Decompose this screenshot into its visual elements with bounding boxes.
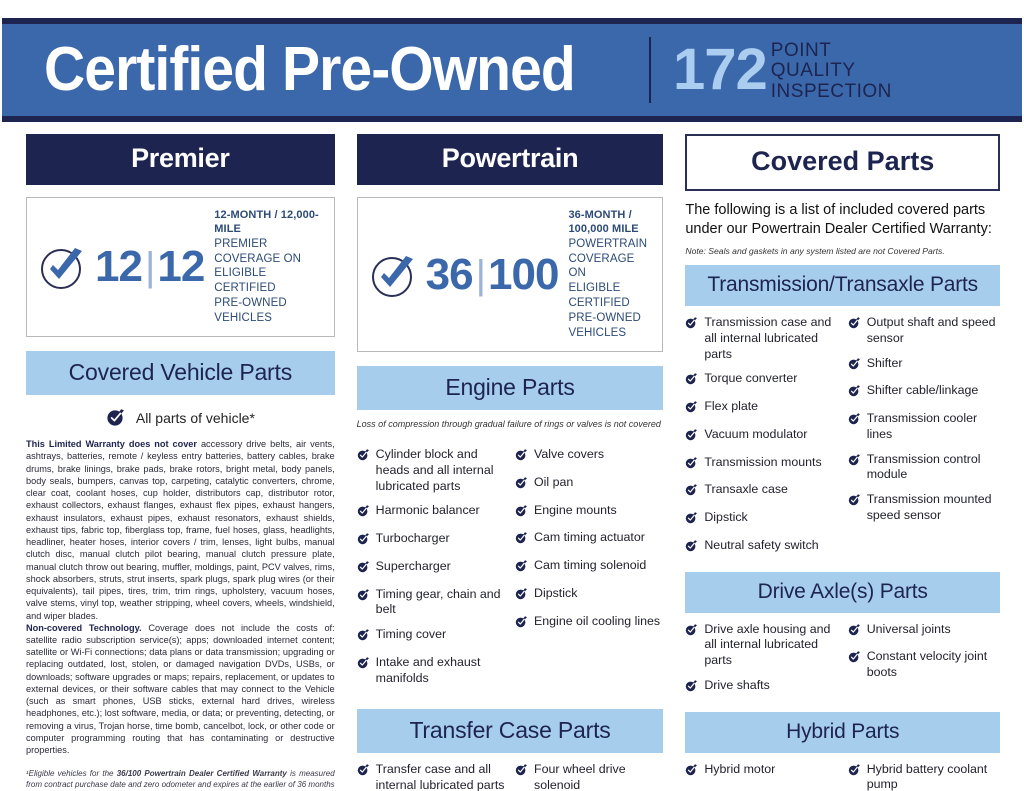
list-item-label: Cam timing solenoid bbox=[534, 558, 663, 574]
list-item-label: Intake and exhaust manifolds bbox=[376, 655, 505, 687]
disclaimer-lead: This Limited Warranty does not cover bbox=[26, 439, 197, 449]
list-item-label: Transaxle case bbox=[704, 482, 837, 498]
powertrain-months: 36 bbox=[426, 253, 473, 297]
list-item-label: Universal joints bbox=[867, 622, 1000, 638]
list-item: Hybrid battery coolant pump bbox=[848, 762, 1000, 791]
check-icon bbox=[848, 412, 861, 430]
list-item-label: Engine oil cooling lines bbox=[534, 614, 663, 630]
engine-parts-col1: Cylinder block and heads and all interna… bbox=[357, 447, 505, 695]
list-item-label: Shifter bbox=[867, 356, 1000, 372]
list-item-label: Neutral safety switch bbox=[704, 538, 837, 554]
tech-body: Coverage does not include the costs of: … bbox=[26, 623, 335, 755]
powertrain-badge-text: 36-MONTH / 100,000 MILE POWERTRAIN COVER… bbox=[568, 208, 654, 341]
check-icon bbox=[848, 623, 861, 641]
powertrain-badge-numbers: 36 | 100 bbox=[426, 253, 559, 297]
check-icon bbox=[357, 656, 370, 674]
list-item: Constant velocity joint boots bbox=[848, 649, 1000, 681]
list-item: Transmission case and all internal lubri… bbox=[685, 315, 837, 362]
powertrain-miles: 100 bbox=[488, 253, 558, 297]
list-item: Shifter bbox=[848, 356, 1000, 375]
transmission-col1: Transmission case and all internal lubri… bbox=[685, 315, 837, 566]
list-item: Shifter cable/linkage bbox=[848, 383, 1000, 402]
list-item-label: Transmission control module bbox=[867, 452, 1000, 484]
check-icon bbox=[357, 532, 370, 550]
header-band: Certified Pre-Owned 172 POINT QUALITY IN… bbox=[2, 24, 1022, 116]
list-item-label: Hybrid battery coolant pump bbox=[867, 762, 1000, 791]
hybrid-col1: Hybrid motorHybrid battery cooling fan m… bbox=[685, 762, 837, 791]
list-item-label: Hybrid motor bbox=[704, 762, 837, 778]
check-icon bbox=[357, 504, 370, 522]
list-item: Dipstick bbox=[685, 510, 837, 529]
check-icon bbox=[848, 357, 861, 375]
certified-pre-owned-page: Certified Pre-Owned 172 POINT QUALITY IN… bbox=[0, 18, 1024, 791]
list-item-label: Timing cover bbox=[376, 627, 505, 643]
check-icon bbox=[106, 407, 126, 430]
premier-badge-divider: | bbox=[145, 247, 154, 287]
powertrain-badge-line1: POWERTRAIN COVERAGE ON bbox=[568, 237, 654, 282]
list-item: Timing cover bbox=[357, 627, 505, 646]
check-icon bbox=[685, 763, 698, 781]
premier-badge-numbers: 12 | 12 bbox=[95, 245, 204, 289]
list-item-label: Transmission case and all internal lubri… bbox=[704, 315, 837, 362]
all-parts-row: All parts of vehicle* bbox=[26, 395, 335, 436]
list-item-label: Cylinder block and heads and all interna… bbox=[376, 447, 505, 494]
check-icon bbox=[357, 448, 370, 466]
drive-axle-col2: Universal jointsConstant velocity joint … bbox=[848, 622, 1000, 706]
covered-parts-intro: The following is a list of included cove… bbox=[685, 201, 1000, 238]
list-item: Torque converter bbox=[685, 371, 837, 390]
list-item: Neutral safety switch bbox=[685, 538, 837, 557]
check-icon bbox=[685, 372, 698, 390]
powertrain-badge-line2: ELIGIBLE CERTIFIED bbox=[568, 281, 654, 311]
check-icon bbox=[515, 504, 528, 522]
column-premier: Premier 12 | 12 12-MONTH / 12,000-MILE P… bbox=[14, 134, 343, 791]
footnote-1a: ¹Eligible vehicles for the bbox=[26, 769, 117, 778]
list-item-label: Transmission cooler lines bbox=[867, 411, 1000, 443]
powertrain-badge-term: 36-MONTH / 100,000 MILE bbox=[568, 208, 654, 237]
list-item: Valve covers bbox=[515, 447, 663, 466]
list-item: Vacuum modulator bbox=[685, 427, 837, 446]
covered-vehicle-parts-title: Covered Vehicle Parts bbox=[26, 351, 335, 395]
transfer-case-col1: Transfer case and all internal lubricate… bbox=[357, 762, 505, 791]
transmission-parts-title: Transmission/Transaxle Parts bbox=[685, 265, 1000, 306]
hybrid-col2: Hybrid battery coolant pumpInput damperI… bbox=[848, 762, 1000, 791]
list-item: Transmission mounted speed sensor bbox=[848, 492, 1000, 524]
list-item: Timing gear, chain and belt bbox=[357, 587, 505, 619]
inspection-label-line2: QUALITY bbox=[771, 61, 892, 82]
footnote-1b: 36/100 Powertrain Dealer Certified Warra… bbox=[117, 769, 287, 778]
list-item-label: Flex plate bbox=[704, 399, 837, 415]
check-icon bbox=[515, 448, 528, 466]
list-item-label: Oil pan bbox=[534, 475, 663, 491]
transfer-case-parts-title: Transfer Case Parts bbox=[357, 709, 664, 753]
check-icon bbox=[685, 316, 698, 334]
check-icon bbox=[685, 511, 698, 529]
list-item: Engine oil cooling lines bbox=[515, 614, 663, 633]
inspection-count: 172 bbox=[673, 41, 767, 99]
check-seal-icon bbox=[37, 241, 89, 293]
list-item: Intake and exhaust manifolds bbox=[357, 655, 505, 687]
page-title: Certified Pre-Owned bbox=[44, 39, 575, 101]
check-icon bbox=[848, 384, 861, 402]
list-item: Hybrid motor bbox=[685, 762, 837, 781]
drive-axle-col1: Drive axle housing and all internal lubr… bbox=[685, 622, 837, 706]
covered-parts-note: Note: Seals and gaskets in any system li… bbox=[685, 246, 1000, 256]
list-item: Transmission cooler lines bbox=[848, 411, 1000, 443]
all-parts-label: All parts of vehicle* bbox=[136, 410, 255, 426]
content-columns: Premier 12 | 12 12-MONTH / 12,000-MILE P… bbox=[0, 122, 1024, 791]
check-icon bbox=[685, 539, 698, 557]
check-icon bbox=[848, 316, 861, 334]
check-icon bbox=[685, 456, 698, 474]
powertrain-badge-divider: | bbox=[476, 255, 485, 295]
list-item: Oil pan bbox=[515, 475, 663, 494]
list-item: Drive shafts bbox=[685, 678, 837, 697]
list-item-label: Four wheel drive solenoid bbox=[534, 762, 663, 791]
check-icon bbox=[685, 679, 698, 697]
list-item: Flex plate bbox=[685, 399, 837, 418]
disclaimer-body: accessory drive belts, air vents, ashtra… bbox=[26, 439, 335, 620]
list-item: Turbocharger bbox=[357, 531, 505, 550]
check-icon bbox=[685, 483, 698, 501]
list-item: Drive axle housing and all internal lubr… bbox=[685, 622, 837, 669]
hybrid-parts-title: Hybrid Parts bbox=[685, 712, 1000, 753]
list-item-label: Shifter cable/linkage bbox=[867, 383, 1000, 399]
premier-badge-line1: PREMIER COVERAGE ON bbox=[214, 237, 325, 267]
list-item-label: Constant velocity joint boots bbox=[867, 649, 1000, 681]
premier-months: 12 bbox=[95, 245, 142, 289]
premier-badge-text: 12-MONTH / 12,000-MILE PREMIER COVERAGE … bbox=[214, 208, 325, 326]
check-seal-icon bbox=[368, 249, 420, 301]
powertrain-coverage-badge: 36 | 100 36-MONTH / 100,000 MILE POWERTR… bbox=[357, 197, 664, 352]
header-divider bbox=[649, 37, 651, 103]
premier-coverage-badge: 12 | 12 12-MONTH / 12,000-MILE PREMIER C… bbox=[26, 197, 335, 337]
list-item-label: Transfer case and all internal lubricate… bbox=[376, 762, 505, 791]
check-icon bbox=[515, 615, 528, 633]
premier-title: Premier bbox=[26, 134, 335, 185]
list-item: Transaxle case bbox=[685, 482, 837, 501]
list-item: Cam timing actuator bbox=[515, 530, 663, 549]
list-item-label: Turbocharger bbox=[376, 531, 505, 547]
transfer-case-parts-list: Transfer case and all internal lubricate… bbox=[357, 753, 664, 791]
list-item: Cam timing solenoid bbox=[515, 558, 663, 577]
list-item-label: Timing gear, chain and belt bbox=[376, 587, 505, 619]
engine-parts-list: Cylinder block and heads and all interna… bbox=[357, 438, 664, 695]
premier-badge-term: 12-MONTH / 12,000-MILE bbox=[214, 208, 325, 237]
covered-parts-title: Covered Parts bbox=[685, 134, 1000, 191]
transmission-col2: Output shaft and speed sensorShifterShif… bbox=[848, 315, 1000, 566]
drive-axle-parts-title: Drive Axle(s) Parts bbox=[685, 572, 1000, 613]
list-item-label: Transmission mounts bbox=[704, 455, 837, 471]
footnotes: ¹Eligible vehicles for the 36/100 Powert… bbox=[26, 768, 335, 791]
check-icon bbox=[357, 628, 370, 646]
list-item: Cylinder block and heads and all interna… bbox=[357, 447, 505, 494]
premier-miles: 12 bbox=[157, 245, 204, 289]
list-item: Supercharger bbox=[357, 559, 505, 578]
check-icon bbox=[515, 587, 528, 605]
inspection-label: POINT QUALITY INSPECTION bbox=[771, 38, 892, 103]
inspection-label-line1: POINT bbox=[771, 41, 892, 62]
tech-lead: Non-covered Technology. bbox=[26, 623, 142, 633]
column-powertrain: Powertrain 36 | 100 36-MONTH / 100,000 M… bbox=[343, 134, 672, 791]
list-item-label: Harmonic balancer bbox=[376, 503, 505, 519]
list-item-label: Cam timing actuator bbox=[534, 530, 663, 546]
check-icon bbox=[515, 476, 528, 494]
check-icon bbox=[848, 453, 861, 471]
column-covered-parts: Covered Parts The following is a list of… bbox=[671, 134, 1010, 791]
check-icon bbox=[357, 560, 370, 578]
list-item-label: Drive axle housing and all internal lubr… bbox=[704, 622, 837, 669]
list-item: Universal joints bbox=[848, 622, 1000, 641]
list-item: Engine mounts bbox=[515, 503, 663, 522]
list-item-label: Engine mounts bbox=[534, 503, 663, 519]
list-item-label: Output shaft and speed sensor bbox=[867, 315, 1000, 347]
check-icon bbox=[685, 623, 698, 641]
list-item: Dipstick bbox=[515, 586, 663, 605]
hybrid-parts-list: Hybrid motorHybrid battery cooling fan m… bbox=[685, 753, 1000, 791]
list-item-label: Transmission mounted speed sensor bbox=[867, 492, 1000, 524]
transmission-parts-list: Transmission case and all internal lubri… bbox=[685, 306, 1000, 566]
list-item-label: Drive shafts bbox=[704, 678, 837, 694]
inspection-label-line3: INSPECTION bbox=[771, 82, 892, 103]
premier-badge-line2: ELIGIBLE CERTIFIED bbox=[214, 266, 325, 296]
powertrain-title: Powertrain bbox=[357, 134, 664, 185]
limited-warranty-disclaimer: This Limited Warranty does not cover acc… bbox=[26, 438, 335, 756]
list-item-label: Dipstick bbox=[534, 586, 663, 602]
check-icon bbox=[357, 763, 370, 781]
list-item: Transfer case and all internal lubricate… bbox=[357, 762, 505, 791]
check-icon bbox=[685, 428, 698, 446]
list-item: Four wheel drive solenoid bbox=[515, 762, 663, 791]
list-item: Harmonic balancer bbox=[357, 503, 505, 522]
check-icon bbox=[848, 650, 861, 668]
transfer-case-col2: Four wheel drive solenoidTransfer case s… bbox=[515, 762, 663, 791]
list-item-label: Valve covers bbox=[534, 447, 663, 463]
check-icon bbox=[357, 588, 370, 606]
list-item: Transmission control module bbox=[848, 452, 1000, 484]
list-item-label: Supercharger bbox=[376, 559, 505, 575]
engine-parts-title: Engine Parts bbox=[357, 366, 664, 410]
check-icon bbox=[515, 763, 528, 781]
drive-axle-parts-list: Drive axle housing and all internal lubr… bbox=[685, 613, 1000, 706]
list-item-label: Torque converter bbox=[704, 371, 837, 387]
premier-badge-line3: PRE-OWNED VEHICLES bbox=[214, 296, 325, 326]
list-item: Transmission mounts bbox=[685, 455, 837, 474]
check-icon bbox=[848, 763, 861, 781]
check-icon bbox=[515, 531, 528, 549]
check-icon bbox=[515, 559, 528, 577]
page-header: Certified Pre-Owned 172 POINT QUALITY IN… bbox=[0, 18, 1024, 122]
check-icon bbox=[848, 493, 861, 511]
list-item-label: Dipstick bbox=[704, 510, 837, 526]
list-item: Output shaft and speed sensor bbox=[848, 315, 1000, 347]
check-icon bbox=[685, 400, 698, 418]
engine-parts-note: Loss of compression through gradual fail… bbox=[357, 419, 664, 429]
list-item-label: Vacuum modulator bbox=[704, 427, 837, 443]
engine-parts-col2: Valve coversOil panEngine mountsCam timi… bbox=[515, 447, 663, 695]
powertrain-badge-line3: PRE-OWNED VEHICLES bbox=[568, 311, 654, 341]
